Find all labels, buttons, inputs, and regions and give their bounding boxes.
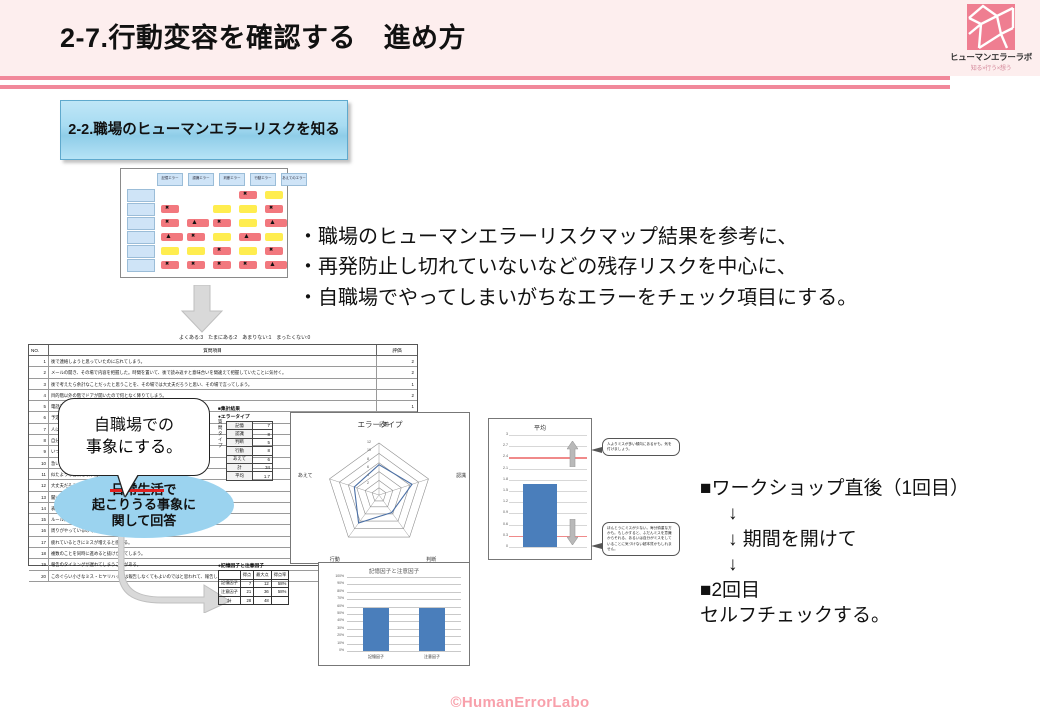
radar-chart-plot: [291, 413, 471, 565]
page-title: 2-7.行動変容を確認する 進め方: [60, 16, 466, 55]
average-chart-title: 平均: [489, 423, 591, 432]
radar-axis-label: 記憶: [379, 421, 389, 428]
callout-daily-life-suffix: で: [163, 482, 176, 497]
risk-map-cell: [161, 219, 179, 227]
risk-marker-icon: ✖: [165, 260, 169, 269]
slide-header: 2-7.行動変容を確認する 進め方: [0, 0, 1040, 76]
risk-map-row-label: [127, 231, 155, 244]
risk-map-cell: [239, 247, 257, 255]
risk-marker-icon: ▲: [269, 260, 276, 269]
annotation-bubble-high: 人よりミスが多い傾向にあるかも。気を付けましょう。: [602, 438, 680, 456]
risk-map-cell: [213, 261, 231, 269]
risk-marker-icon: ✖: [191, 232, 195, 241]
table-row: 行動8: [227, 447, 273, 455]
checklist-cell-question: 後で考えたら余計なことだったと思うことを、その場では大丈夫だろうと思い、その場で…: [49, 379, 377, 389]
risk-map-cell: [239, 205, 257, 213]
checklist-cell-score: 1: [377, 379, 417, 389]
flow-arrow-elbow: [118, 535, 233, 613]
right-text-line-3: ■2回目: [700, 578, 1020, 603]
gridline: [347, 592, 461, 593]
factor-col-header: 最大点: [254, 571, 272, 580]
callout-daily-life-line1: 日常生活で: [92, 482, 196, 498]
checklist-cell-no: 6: [29, 412, 49, 422]
y-axis-tick: 50%: [321, 611, 344, 615]
radar-tick-label: 12: [367, 440, 371, 444]
risk-marker-icon: ▲: [243, 232, 250, 241]
risk-map-cell: [187, 261, 205, 269]
risk-map-cell: [161, 261, 179, 269]
risk-map-thumbnail[interactable]: 記憶エラー認識エラー判断エラー行動エラーあえてのエラー ✖✖✖✖▲✖▲▲✖▲✖✖…: [120, 168, 288, 278]
checklist-cell-score: 1: [377, 401, 417, 411]
gridline: [347, 577, 461, 578]
summary-key: あえて: [227, 455, 253, 463]
y-axis-tick: 0: [491, 544, 508, 548]
table-row: 記憶7: [227, 422, 273, 430]
risk-map-row-label: [127, 217, 155, 230]
header-rule-top: [0, 76, 950, 80]
risk-marker-icon: ✖: [165, 204, 169, 213]
checklist-header-row: NO. 質問項目 評価: [29, 345, 417, 356]
bar: [363, 608, 389, 651]
right-text-arrow-2: ↓: [700, 552, 1020, 577]
factor-col-header: 得点率: [271, 571, 289, 580]
risk-map-col-header: 認識エラー: [188, 173, 214, 186]
checklist-cell-no: 14: [29, 503, 49, 513]
factor-col-header: [219, 571, 241, 580]
annotation-bubble-low: ほんとうにミスが少ない。毎分慎重な方かも。もしかすると、ふだんミスを意識からそれ…: [602, 522, 680, 556]
y-axis-tick: 0%: [321, 648, 344, 652]
y-axis-tick: 90%: [321, 581, 344, 585]
summary-value: 7: [253, 422, 273, 430]
gridline: [509, 435, 587, 436]
summary-value: 34: [253, 463, 273, 471]
bar: [419, 608, 445, 651]
radar-tick-label: 2: [367, 481, 369, 485]
risk-marker-icon: ✖: [165, 218, 169, 227]
y-axis-tick: 70%: [321, 596, 344, 600]
bullet-line-2: ・再発防止し切れていないなどの残存リスクを中心に、: [298, 252, 958, 282]
radar-axis-label: あえて: [298, 472, 313, 479]
arrow-down-icon: [567, 519, 577, 550]
bullet-line-1: ・職場のヒューマンエラーリスクマップ結果を参考に、: [298, 222, 958, 252]
radar-axis-label: 認識: [456, 472, 466, 479]
risk-map-row-label: [127, 259, 155, 272]
summary-side-label: 質問タイプ: [218, 419, 226, 449]
checklist-col-no: NO.: [29, 345, 49, 355]
checklist-cell-no: 18: [29, 548, 49, 558]
table-row: 判断5: [227, 438, 273, 446]
x-axis-category: 記憶因子: [351, 654, 401, 660]
factor-bar-chart[interactable]: 記憶因子と注意因子 100%90%80%70%60%50%40%30%20%10…: [318, 562, 470, 666]
checklist-cell-no: 15: [29, 514, 49, 524]
risk-map-cell: [239, 219, 257, 227]
annotation-tail-high: [591, 447, 602, 453]
risk-map-cell: [213, 219, 231, 227]
bar: [523, 484, 557, 547]
risk-map-cell: [265, 247, 283, 255]
callout-daily-life-line2: 起こりうる事象に: [92, 497, 196, 513]
risk-map-cell: [265, 233, 283, 241]
factor-cell: 48: [254, 596, 272, 605]
table-row[interactable]: 2メールの開き、その場で内容を把握した。時間を置いて、後で読み返すと意味合いを間…: [29, 367, 417, 378]
summary-value: 8: [253, 447, 273, 455]
table-row: 注意因子213658%: [219, 588, 289, 597]
factor-cell: 28: [240, 596, 253, 605]
summary-key: 判断: [227, 438, 253, 446]
radar-tick-label: 8: [367, 457, 369, 461]
risk-map-cell: [265, 191, 283, 199]
y-axis-tick: 40%: [321, 618, 344, 622]
checklist-cell-no: 2: [29, 367, 49, 377]
y-axis-tick: 100%: [321, 574, 344, 578]
table-row[interactable]: 3後で考えたら余計なことだったと思うことを、その場では大丈夫だろうと思い、その場…: [29, 379, 417, 390]
bullet-text-block: ・職場のヒューマンエラーリスクマップ結果を参考に、 ・再発防止し切れていないなど…: [298, 222, 958, 313]
factor-cell: 12: [254, 579, 272, 588]
average-bar-chart[interactable]: 平均 32.72.42.11.81.51.20.90.60.30: [488, 418, 592, 560]
risk-map-cell: [239, 261, 257, 269]
risk-map-cell: [213, 205, 231, 213]
header-rules: [0, 76, 1040, 94]
y-axis-tick: 0.6: [491, 522, 508, 526]
y-axis-tick: 20%: [321, 633, 344, 637]
logo-tagline: 知る×行う×想う: [948, 63, 1034, 72]
summary-factor: ●記憶因子と注意因子 得点最大点得点率記憶因子71258%注意因子213658%…: [218, 562, 308, 605]
risk-map-col-header: 記憶エラー: [157, 173, 183, 186]
radar-tick-label: 4: [367, 473, 369, 477]
summary-key: 記憶: [227, 422, 253, 430]
summary-key: 平均: [227, 472, 253, 480]
summary-value: 6: [253, 455, 273, 463]
checklist-cell-no: 7: [29, 424, 49, 434]
summary-heading-errortype: ●エラータイプ: [218, 413, 296, 420]
callout-own-workplace-line2: 事象にする。: [86, 437, 182, 459]
risk-map-cell: [161, 205, 179, 213]
right-text-block: ■ワークショップ直後（1回目） ↓ ↓ 期間を開けて ↓ ■2回目 セルフチェッ…: [700, 476, 1020, 629]
summary-key: 認識: [227, 430, 253, 438]
radar-tick-label: 6: [367, 465, 369, 469]
summary-factor-table: 得点最大点得点率記憶因子71258%注意因子213658%計2848: [218, 570, 289, 605]
footer-copyright: ©HumanErrorLabo: [0, 694, 1040, 711]
risk-map-cell: [213, 247, 231, 255]
table-row: 記憶因子71258%: [219, 579, 289, 588]
checklist-cell-no: 4: [29, 390, 49, 400]
risk-marker-icon: ✖: [243, 190, 247, 199]
checklist-cell-no: 8: [29, 435, 49, 445]
section-badge-label: 2-2.職場のヒューマンエラーリスクを知る: [68, 121, 339, 139]
risk-map-row-label: [127, 203, 155, 216]
checklist-cell-no: 13: [29, 492, 49, 502]
risk-marker-icon: ✖: [191, 260, 195, 269]
table-row[interactable]: 1後で連絡しようと思っていたのに忘れてしまう。2: [29, 356, 417, 367]
risk-map-col-header: 行動エラー: [250, 173, 276, 186]
factor-cell: 36: [254, 588, 272, 597]
y-axis-tick: 2.7: [491, 443, 508, 447]
radar-tick-label: 10: [367, 448, 371, 452]
gridline: [347, 599, 461, 600]
checklist-cell-no: 10: [29, 458, 49, 468]
y-axis-tick: 2.1: [491, 466, 508, 470]
risk-marker-icon: ✖: [243, 260, 247, 269]
summary-value: 8: [253, 430, 273, 438]
factor-cell: 7: [240, 579, 253, 588]
risk-map-header-row: 記憶エラー認識エラー判断エラー行動エラーあえてのエラー: [157, 173, 312, 187]
risk-marker-icon: ▲: [269, 218, 276, 227]
risk-map-cell: [161, 247, 179, 255]
checklist-col-question: 質問項目: [49, 345, 377, 355]
y-axis-tick: 1.2: [491, 499, 508, 503]
y-axis-tick: 0.3: [491, 533, 508, 537]
summary-value: 1.7: [253, 472, 273, 480]
risk-map-cell: [213, 233, 231, 241]
callout-own-workplace-line1: 自職場での: [86, 415, 182, 437]
y-axis-tick: 30%: [321, 626, 344, 630]
risk-marker-icon: ✖: [217, 246, 221, 255]
logo-name: ヒューマンエラーラボ: [948, 51, 1034, 63]
risk-marker-icon: ✖: [269, 246, 273, 255]
table-row: 計34: [227, 463, 273, 471]
checklist-cell-no: 5: [29, 401, 49, 411]
factor-cell: [271, 596, 289, 605]
factor-cell: 58%: [271, 579, 289, 588]
callout-tail: [118, 474, 138, 496]
factor-cell: 記憶因子: [219, 579, 241, 588]
risk-map-cell: [187, 233, 205, 241]
checklist-cell-question: メールの開き、その場で内容を把握した。時間を置いて、後で読み返すと意味合いを間違…: [49, 367, 377, 377]
gridline: [347, 651, 461, 652]
right-text-arrow-1: ↓: [700, 501, 1020, 526]
checklist-cell-no: 20: [29, 571, 49, 581]
summary-key: 計: [227, 463, 253, 471]
checklist-col-score: 評価: [377, 345, 417, 355]
risk-map-col-header: あえてのエラー: [281, 173, 307, 186]
risk-marker-icon: ✖: [269, 204, 273, 213]
y-axis-tick: 3: [491, 432, 508, 436]
risk-map-col-header: 判断エラー: [219, 173, 245, 186]
checklist-legend: よくある:3 たまにある:2 あまりない:1 まったくない:0: [179, 334, 419, 341]
table-header-row: 得点最大点得点率: [219, 571, 289, 580]
table-row: 認識8: [227, 430, 273, 438]
checklist-cell-question: 後で連絡しようと思っていたのに忘れてしまう。: [49, 356, 377, 366]
section-badge[interactable]: 2-2.職場のヒューマンエラーリスクを知る: [60, 100, 348, 160]
risk-map-row-label: [127, 189, 155, 202]
callout-own-workplace: 自職場での 事象にする。: [58, 398, 210, 476]
risk-map-row-label: [127, 245, 155, 258]
summary-errortype-table: 記憶7認識8判断5行動8あえて6計34平均1.7: [226, 421, 273, 481]
y-axis-tick: 60%: [321, 604, 344, 608]
checklist-cell-no: 9: [29, 446, 49, 456]
flow-arrow-down-1: [180, 285, 224, 333]
checklist-cell-no: 16: [29, 525, 49, 535]
risk-marker-icon: ▲: [165, 232, 172, 241]
brand-logo: ヒューマンエラーラボ 知る×行う×想う: [948, 4, 1034, 82]
header-rule-bottom: [0, 85, 950, 89]
risk-map-cell: [187, 247, 205, 255]
arrow-up-icon: [567, 441, 577, 472]
right-text-line-1: ■ワークショップ直後（1回目）: [700, 476, 1020, 501]
factor-cell: 21: [240, 588, 253, 597]
risk-marker-icon: ✖: [217, 218, 221, 227]
table-row: 平均1.7: [227, 472, 273, 480]
summary-heading-total: ■集計結果: [218, 405, 296, 412]
checklist-cell-no: 1: [29, 356, 49, 366]
factor-col-header: 得点: [240, 571, 253, 580]
y-axis-tick: 1.5: [491, 488, 508, 492]
y-axis-tick: 10%: [321, 641, 344, 645]
table-row: 計2848: [219, 596, 289, 605]
checklist-cell-score: 2: [377, 367, 417, 377]
callout-daily-life-line3: 関して回答: [92, 513, 196, 529]
annotation-tail-low: [591, 543, 602, 549]
callout-daily-life: 日常生活で 起こりうる事象に 関して回答: [54, 472, 234, 538]
risk-map-cell: [265, 205, 283, 213]
gridline: [347, 584, 461, 585]
risk-marker-icon: ▲: [191, 218, 198, 227]
y-axis-tick: 1.8: [491, 477, 508, 481]
checklist-cell-no: 3: [29, 379, 49, 389]
factor-cell: 58%: [271, 588, 289, 597]
summary-errortype: ■集計結果 ●エラータイプ 質問タイプ 記憶7認識8判断5行動8あえて6計34平…: [218, 405, 296, 481]
right-text-line-4: セルフチェックする。: [700, 603, 1020, 628]
risk-map-cell: [239, 191, 257, 199]
logo-mark-icon: [967, 4, 1015, 50]
x-axis-category: 注意因子: [407, 654, 457, 660]
risk-marker-icon: ✖: [217, 260, 221, 269]
y-axis-tick: 80%: [321, 589, 344, 593]
checklist-cell-score: 2: [377, 356, 417, 366]
summary-value: 5: [253, 438, 273, 446]
radar-chart[interactable]: エラータイプ 記憶認識判断行動あえて12108642: [290, 412, 470, 564]
checklist-cell-no: 17: [29, 537, 49, 547]
summary-key: 行動: [227, 447, 253, 455]
checklist-cell-no: 11: [29, 469, 49, 479]
summary-factor-heading: ●記憶因子と注意因子: [218, 562, 308, 569]
checklist-cell-score: 2: [377, 390, 417, 400]
factor-cell: 計: [219, 596, 241, 605]
factor-cell: 注意因子: [219, 588, 241, 597]
checklist-cell-no: 19: [29, 559, 49, 569]
table-row: あえて6: [227, 455, 273, 463]
bullet-line-3: ・自職場でやってしまいがちなエラーをチェック項目にする。: [298, 283, 958, 313]
gridline: [509, 480, 587, 481]
checklist-cell-no: 12: [29, 480, 49, 490]
y-axis-tick: 0.9: [491, 510, 508, 514]
y-axis-tick: 2.4: [491, 454, 508, 458]
right-text-line-2: ↓ 期間を開けて: [700, 527, 1020, 552]
